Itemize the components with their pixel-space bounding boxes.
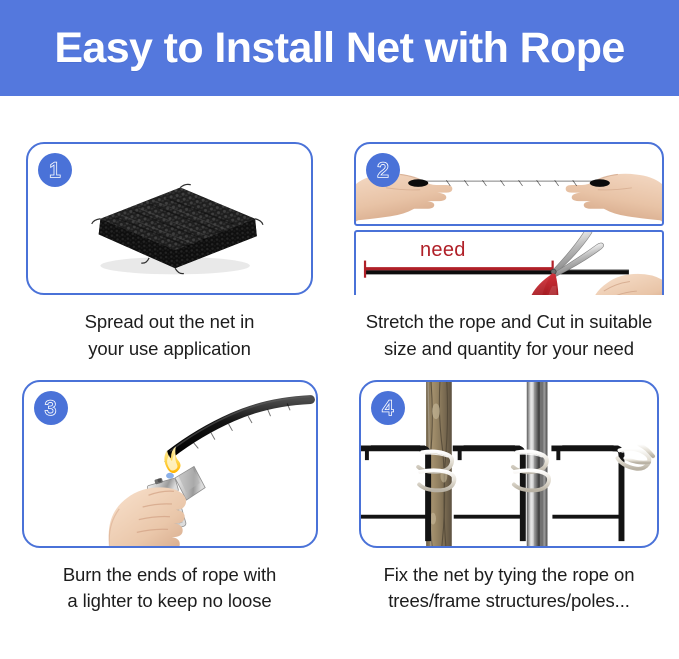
step-3-caption: Burn the ends of rope with a lighter to …	[63, 562, 276, 615]
steps-grid: 1	[0, 96, 679, 659]
step-3-caption-line-2: a lighter to keep no loose	[63, 588, 276, 614]
step-1-caption: Spread out the net in your use applicati…	[85, 309, 255, 362]
step-4: 4	[339, 362, 679, 659]
net-tied-to-tree-and-pole-photo	[361, 382, 657, 546]
step-3-image-panel: 3	[22, 380, 318, 548]
step-4-caption-line-2: trees/frame structures/poles...	[384, 588, 635, 614]
step-3-number-badge: 3	[34, 391, 68, 425]
step-3: 3	[0, 362, 339, 659]
step-2: 2	[339, 96, 679, 362]
step-4-caption-line-1: Fix the net by tying the rope on	[384, 562, 635, 588]
step-4-caption: Fix the net by tying the rope on trees/f…	[384, 562, 635, 615]
step-3-caption-line-1: Burn the ends of rope with	[63, 562, 276, 588]
page-title: Easy to Install Net with Rope	[54, 27, 624, 70]
step-2-image-panel: 2	[354, 142, 664, 295]
step-1-number-badge: 1	[38, 153, 72, 187]
step-4-number-label: 4	[382, 398, 394, 419]
step-1-caption-line-2: your use application	[85, 336, 255, 362]
step-1: 1	[0, 96, 339, 362]
step-1-image-panel: 1	[26, 142, 313, 295]
cutting-rope-with-scissors-photo	[356, 232, 662, 295]
step-2-number-badge: 2	[366, 153, 400, 187]
step-2-caption: Stretch the rope and Cut in suitable siz…	[366, 309, 652, 362]
step-3-number-label: 3	[45, 398, 57, 419]
step-2-caption-line-2: size and quantity for your need	[366, 336, 652, 362]
step-4-number-badge: 4	[371, 391, 405, 425]
header-banner: Easy to Install Net with Rope	[0, 0, 679, 96]
step-2-top-image: 2	[354, 142, 664, 226]
step-1-number-label: 1	[49, 160, 61, 181]
hands-stretching-rope-photo	[356, 144, 662, 224]
need-annotation-label: need	[420, 240, 466, 260]
step-2-caption-line-1: Stretch the rope and Cut in suitable	[366, 309, 652, 335]
step-2-number-label: 2	[377, 160, 389, 181]
step-4-image-panel: 4	[359, 380, 659, 548]
step-1-caption-line-1: Spread out the net in	[85, 309, 255, 335]
step-2-bottom-image: need	[354, 230, 664, 295]
